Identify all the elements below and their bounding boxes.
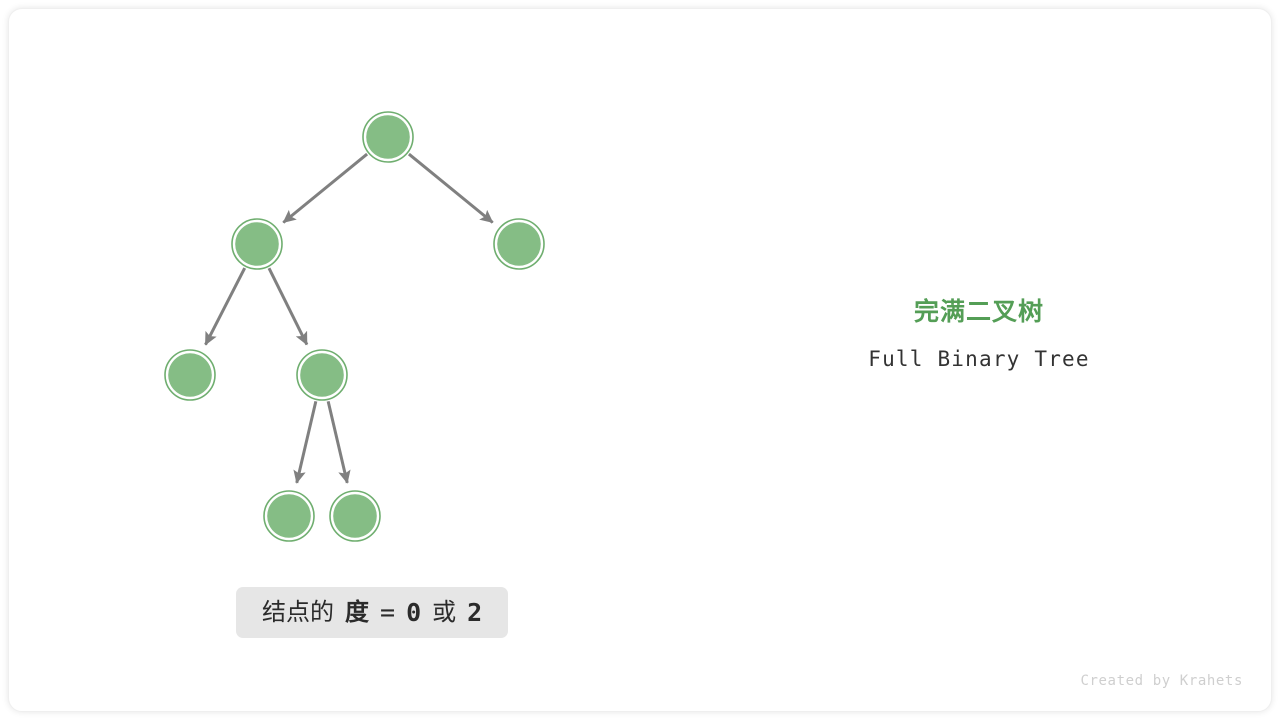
title-chinese: 完满二叉树 bbox=[769, 297, 1189, 327]
tree-node-disc bbox=[366, 115, 410, 159]
tree-edge bbox=[283, 154, 367, 222]
tree-edge bbox=[297, 401, 316, 483]
title-english: Full Binary Tree bbox=[769, 347, 1189, 371]
tree-node-disc bbox=[168, 353, 212, 397]
tree-edge bbox=[409, 154, 493, 222]
tree-node-disc bbox=[267, 494, 311, 538]
caption-segment: 或 bbox=[432, 601, 456, 625]
tree-edges bbox=[205, 154, 492, 483]
tree-node[interactable] bbox=[232, 219, 282, 269]
caption-box: 结点的度=0或2 bbox=[236, 587, 508, 638]
tree-node[interactable] bbox=[330, 491, 380, 541]
tree-edge bbox=[328, 401, 347, 483]
tree-node[interactable] bbox=[264, 491, 314, 541]
caption-segment: 0 bbox=[406, 600, 421, 625]
tree-edge bbox=[205, 268, 244, 345]
tree-node[interactable] bbox=[494, 219, 544, 269]
tree-node-disc bbox=[497, 222, 541, 266]
tree-node-disc bbox=[300, 353, 344, 397]
label-block: 完满二叉树 Full Binary Tree bbox=[769, 297, 1189, 371]
tree-node[interactable] bbox=[297, 350, 347, 400]
tree-nodes bbox=[165, 112, 544, 541]
tree-node[interactable] bbox=[165, 350, 215, 400]
diagram-card: 完满二叉树 Full Binary Tree 结点的度=0或2 Created … bbox=[8, 8, 1272, 712]
tree-edge bbox=[269, 268, 307, 344]
tree-node-disc bbox=[235, 222, 279, 266]
caption-segment: = bbox=[380, 600, 395, 625]
caption-segment: 结点的 bbox=[262, 601, 334, 625]
caption-segment: 2 bbox=[467, 600, 482, 625]
caption-segment: 度 bbox=[345, 601, 369, 625]
credit-text: Created by Krahets bbox=[1080, 673, 1243, 689]
tree-node[interactable] bbox=[363, 112, 413, 162]
tree-node-disc bbox=[333, 494, 377, 538]
